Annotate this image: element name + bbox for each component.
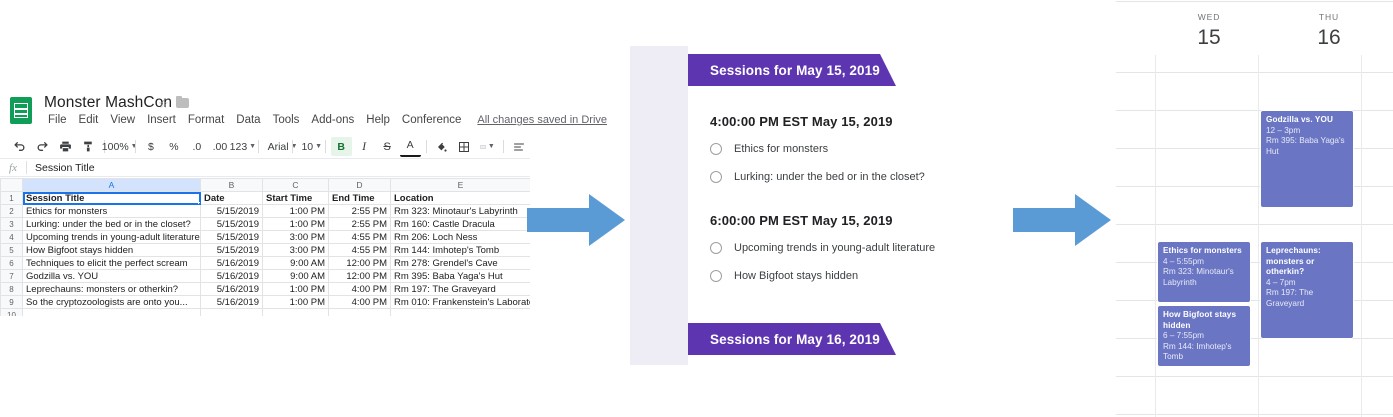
formula-bar-value[interactable]: Session Title	[27, 162, 95, 174]
row-number[interactable]: 4	[1, 231, 23, 244]
table-row[interactable]: 4 Upcoming trends in young-adult literat…	[1, 231, 531, 244]
cell-session-title[interactable]: How Bigfoot stays hidden	[23, 244, 201, 257]
cell-empty[interactable]	[329, 309, 391, 317]
cell-date[interactable]: 5/16/2019	[201, 257, 263, 270]
event-location: Rm 323: Minotaur's Labyrinth	[1163, 267, 1246, 288]
table-row[interactable]: 5 How Bigfoot stays hidden 5/15/2019 3:0…	[1, 244, 531, 257]
cell-end-time[interactable]: 4:00 PM	[329, 283, 391, 296]
menu-item-edit[interactable]: Edit	[73, 112, 105, 128]
menu-item-add-ons[interactable]: Add-ons	[305, 112, 360, 128]
formula-bar[interactable]: fx Session Title	[0, 158, 530, 177]
cell-end-time[interactable]: 4:55 PM	[329, 244, 391, 257]
table-row[interactable]: 7 Godzilla vs. YOU 5/16/2019 9:00 AM 12:…	[1, 270, 531, 283]
cell-date[interactable]: 5/16/2019	[201, 270, 263, 283]
row-number[interactable]: 6	[1, 257, 23, 270]
star-icon[interactable]: ☆	[158, 97, 169, 111]
radio-option-label: Ethics for monsters	[734, 143, 828, 155]
event-title: Godzilla vs. YOU	[1266, 115, 1349, 126]
cell-start-time[interactable]: 3:00 PM	[263, 231, 329, 244]
radio-button-icon[interactable]	[710, 242, 722, 254]
cell-session-title[interactable]: Ethics for monsters	[23, 205, 201, 218]
cell-empty[interactable]	[263, 309, 329, 317]
increase-decimal-button[interactable]: .00	[209, 137, 230, 156]
cell-session-title[interactable]: Upcoming trends in young-adult literatur…	[23, 231, 201, 244]
cell-end-time[interactable]: 12:00 PM	[329, 270, 391, 283]
radio-option-label: How Bigfoot stays hidden	[734, 270, 858, 282]
banner-sessions-may-15: Sessions for May 15, 2019	[688, 54, 880, 86]
number-format-label: 123	[230, 141, 248, 153]
calendar-event-ethics[interactable]: Ethics for monsters 4 – 5:55pm Rm 323: M…	[1157, 241, 1251, 303]
radio-option[interactable]: How Bigfoot stays hidden	[710, 270, 915, 282]
menu-item-insert[interactable]: Insert	[141, 112, 182, 128]
zoom-level-value: 100%	[102, 141, 129, 153]
radio-option-label: Upcoming trends in young-adult literatur…	[734, 242, 935, 254]
zoom-level-selector[interactable]: 100% ▼	[109, 137, 130, 156]
event-title: How Bigfoot stays hidden	[1163, 310, 1246, 331]
calendar-event-godzilla[interactable]: Godzilla vs. YOU 12 – 3pm Rm 395: Baba Y…	[1260, 110, 1354, 208]
cell-start-time[interactable]: 1:00 PM	[263, 218, 329, 231]
cell-d1[interactable]: End Time	[329, 192, 391, 205]
cell-end-time[interactable]: 2:55 PM	[329, 218, 391, 231]
event-time: 4 – 7pm	[1266, 278, 1349, 289]
align-left-icon[interactable]	[508, 137, 529, 156]
column-header-d[interactable]: D	[329, 179, 391, 192]
cell-end-time[interactable]: 2:55 PM	[329, 205, 391, 218]
grid-line	[1116, 224, 1393, 225]
session-group-heading: 4:00:00 PM EST May 15, 2019	[710, 114, 915, 129]
font-size-value: 10	[301, 141, 313, 153]
cell-end-time[interactable]: 4:00 PM	[329, 296, 391, 309]
radio-option[interactable]: Ethics for monsters	[710, 143, 915, 155]
menu-item-help[interactable]: Help	[360, 112, 396, 128]
event-location: Rm 197: The Graveyard	[1266, 288, 1349, 309]
chevron-down-icon: ▼	[488, 143, 495, 150]
cell-session-title[interactable]: So the cryptozoologists are onto you...	[23, 296, 201, 309]
event-time: 6 – 7:55pm	[1163, 331, 1246, 342]
fx-icon: fx	[0, 162, 26, 174]
grid-line	[1116, 72, 1393, 73]
day-number-label: 15	[1149, 26, 1269, 50]
session-group-heading: 6:00:00 PM EST May 15, 2019	[710, 213, 915, 228]
day-number-label: 16	[1269, 26, 1389, 50]
form-sheet: Sessions for May 15, 2019 4:00:00 PM EST…	[688, 46, 915, 365]
table-row[interactable]: 8 Leprechauns: monsters or otherkin? 5/1…	[1, 283, 531, 296]
radio-button-icon[interactable]	[710, 270, 722, 282]
text-color-button[interactable]: A	[400, 136, 421, 157]
save-status[interactable]: All changes saved in Drive	[477, 114, 607, 126]
sheet-table: A B C D E 1 Session Title Date Start Tim…	[0, 178, 530, 316]
calendar-day-wed[interactable]: WED 15	[1149, 12, 1269, 50]
right-arrow-icon	[1013, 192, 1111, 248]
cell-session-title[interactable]: Techniques to elicit the perfect scream	[23, 257, 201, 270]
cell-empty[interactable]	[201, 309, 263, 317]
cell-e1[interactable]: Location	[391, 192, 531, 205]
sheets-titlebar: Monster MashCon ☆ File Edit View Insert …	[0, 92, 530, 136]
cell-date[interactable]: 5/15/2019	[201, 231, 263, 244]
cell-a1[interactable]: Session Title	[23, 192, 201, 205]
session-group-6pm: 6:00:00 PM EST May 15, 2019 Upcoming tre…	[688, 213, 915, 282]
event-title: Ethics for monsters	[1163, 246, 1246, 257]
table-row[interactable]: 3 Lurking: under the bed or in the close…	[1, 218, 531, 231]
menu-bar: File Edit View Insert Format Data Tools …	[42, 112, 607, 128]
undo-icon[interactable]	[9, 137, 30, 156]
table-row[interactable]: 1 Session Title Date Start Time End Time…	[1, 192, 531, 205]
row-number[interactable]: 10	[1, 309, 23, 317]
column-header-row: A B C D E	[1, 179, 531, 192]
event-time: 4 – 5:55pm	[1163, 257, 1246, 268]
form-panel: Sessions for May 15, 2019 4:00:00 PM EST…	[630, 46, 915, 365]
grid-line	[1116, 376, 1393, 377]
cell-start-time[interactable]: 1:00 PM	[263, 205, 329, 218]
font-family-selector[interactable]: Arial ▼	[264, 137, 288, 156]
event-title: Leprechauns: monsters or otherkin?	[1266, 246, 1349, 278]
event-location: Rm 144: Imhotep's Tomb	[1163, 342, 1246, 363]
merge-cells-icon[interactable]: ▼	[477, 137, 498, 156]
table-row[interactable]: 9 So the cryptozoologists are onto you..…	[1, 296, 531, 309]
cell-c1[interactable]: Start Time	[263, 192, 329, 205]
row-number[interactable]: 5	[1, 244, 23, 257]
fill-color-icon[interactable]	[431, 137, 452, 156]
cell-date[interactable]: 5/15/2019	[201, 205, 263, 218]
calendar-day-thu[interactable]: THU 16	[1269, 12, 1389, 50]
cell-session-title[interactable]: Godzilla vs. YOU	[23, 270, 201, 283]
row-number[interactable]: 1	[1, 192, 23, 205]
cell-start-time[interactable]: 9:00 AM	[263, 270, 329, 283]
cell-empty[interactable]	[391, 309, 531, 317]
session-group-4pm: 4:00:00 PM EST May 15, 2019 Ethics for m…	[688, 114, 915, 183]
sheets-icon	[10, 97, 32, 124]
chevron-down-icon: ▼	[131, 143, 138, 150]
cell-start-time[interactable]: 1:00 PM	[263, 283, 329, 296]
sheet-body: 1 Session Title Date Start Time End Time…	[1, 192, 531, 317]
calendar-day-header: WED 15 THU 16	[1116, 0, 1393, 62]
redo-icon[interactable]	[32, 137, 53, 156]
row-number[interactable]: 7	[1, 270, 23, 283]
menu-item-conference[interactable]: Conference	[396, 112, 467, 128]
cell-date[interactable]: 5/15/2019	[201, 218, 263, 231]
borders-icon[interactable]	[454, 137, 475, 156]
menu-item-format[interactable]: Format	[182, 112, 230, 128]
cell-date[interactable]: 5/16/2019	[201, 296, 263, 309]
print-icon[interactable]	[55, 137, 76, 156]
menu-item-file[interactable]: File	[42, 112, 73, 128]
column-header-e[interactable]: E	[391, 179, 531, 192]
table-row[interactable]: 10	[1, 309, 531, 317]
cell-date[interactable]: 5/16/2019	[201, 283, 263, 296]
cell-start-time[interactable]: 9:00 AM	[263, 257, 329, 270]
cell-location[interactable]: Rm 278: Grendel's Cave	[391, 257, 531, 270]
cell-session-title[interactable]: Lurking: under the bed or in the closet?	[23, 218, 201, 231]
calendar-event-leprechauns[interactable]: Leprechauns: monsters or otherkin? 4 – 7…	[1260, 241, 1354, 339]
folder-icon[interactable]	[176, 98, 189, 108]
event-time: 12 – 3pm	[1266, 126, 1349, 137]
cell-location[interactable]: Rm 206: Loch Ness	[391, 231, 531, 244]
grid-line	[1361, 55, 1362, 417]
paint-format-icon[interactable]	[78, 137, 99, 156]
cell-location[interactable]: Rm 010: Frankenstein's Laboratory	[391, 296, 531, 309]
grid-line	[1116, 414, 1393, 415]
document-title[interactable]: Monster MashCon	[44, 94, 172, 112]
decrease-decimal-button[interactable]: .0	[186, 137, 207, 156]
radio-option[interactable]: Lurking: under the bed or in the closet?	[710, 171, 915, 183]
column-header-b[interactable]: B	[201, 179, 263, 192]
cell-session-title[interactable]: Leprechauns: monsters or otherkin?	[23, 283, 201, 296]
row-number[interactable]: 3	[1, 218, 23, 231]
cell-end-time[interactable]: 4:55 PM	[329, 231, 391, 244]
google-sheets-panel: Monster MashCon ☆ File Edit View Insert …	[0, 92, 530, 317]
font-family-value: Arial	[268, 141, 289, 153]
menu-item-data[interactable]: Data	[230, 112, 266, 128]
chevron-down-icon: ▼	[315, 143, 322, 150]
table-row[interactable]: 2 Ethics for monsters 5/15/2019 1:00 PM …	[1, 205, 531, 218]
table-row[interactable]: 6 Techniques to elicit the perfect screa…	[1, 257, 531, 270]
cell-empty[interactable]	[23, 309, 201, 317]
bold-button[interactable]: B	[331, 137, 352, 156]
cell-location[interactable]: Rm 197: The Graveyard	[391, 283, 531, 296]
number-format-selector[interactable]: 123 ▼	[232, 137, 253, 156]
cell-b1[interactable]: Date	[201, 192, 263, 205]
row-number[interactable]: 2	[1, 205, 23, 218]
currency-format-button[interactable]: $	[140, 137, 161, 156]
font-size-selector[interactable]: 10 ▼	[297, 137, 320, 156]
day-of-week-label: WED	[1149, 12, 1269, 22]
select-all-corner[interactable]	[1, 179, 23, 192]
menu-item-tools[interactable]: Tools	[267, 112, 306, 128]
cell-start-time[interactable]: 1:00 PM	[263, 296, 329, 309]
row-number[interactable]: 8	[1, 283, 23, 296]
italic-button[interactable]: I	[354, 137, 375, 156]
radio-option-label: Lurking: under the bed or in the closet?	[734, 171, 925, 183]
column-header-a[interactable]: A	[23, 179, 201, 192]
grid-line	[1258, 55, 1259, 417]
grid-line	[1155, 55, 1156, 417]
spreadsheet-grid[interactable]: A B C D E 1 Session Title Date Start Tim…	[0, 178, 530, 316]
column-header-c[interactable]: C	[263, 179, 329, 192]
banner-sessions-may-16: Sessions for May 16, 2019	[688, 323, 880, 355]
radio-option[interactable]: Upcoming trends in young-adult literatur…	[710, 242, 915, 254]
cell-date[interactable]: 5/15/2019	[201, 244, 263, 257]
event-location: Rm 395: Baba Yaga's Hut	[1266, 136, 1349, 157]
day-of-week-label: THU	[1269, 12, 1389, 22]
row-number[interactable]: 9	[1, 296, 23, 309]
percent-format-button[interactable]: %	[163, 137, 184, 156]
calendar-event-bigfoot[interactable]: How Bigfoot stays hidden 6 – 7:55pm Rm 1…	[1157, 305, 1251, 367]
chevron-down-icon: ▼	[249, 143, 256, 150]
cell-location[interactable]: Rm 144: Imhotep's Tomb	[391, 244, 531, 257]
menu-item-view[interactable]: View	[104, 112, 141, 128]
right-arrow-icon	[527, 192, 625, 248]
sheets-toolbar: 100% ▼ $ % .0 .00 123 ▼ Arial ▼ 10 ▼ B I…	[0, 135, 530, 158]
strikethrough-button[interactable]: S	[377, 137, 398, 156]
cell-start-time[interactable]: 3:00 PM	[263, 244, 329, 257]
calendar-panel: WED 15 THU 16 Godzilla vs. YOU 12 – 3pm …	[1116, 0, 1393, 417]
cell-end-time[interactable]: 12:00 PM	[329, 257, 391, 270]
radio-button-icon[interactable]	[710, 143, 722, 155]
cell-location[interactable]: Rm 323: Minotaur's Labyrinth	[391, 205, 531, 218]
cell-location[interactable]: Rm 395: Baba Yaga's Hut	[391, 270, 531, 283]
cell-location[interactable]: Rm 160: Castle Dracula	[391, 218, 531, 231]
radio-button-icon[interactable]	[710, 171, 722, 183]
